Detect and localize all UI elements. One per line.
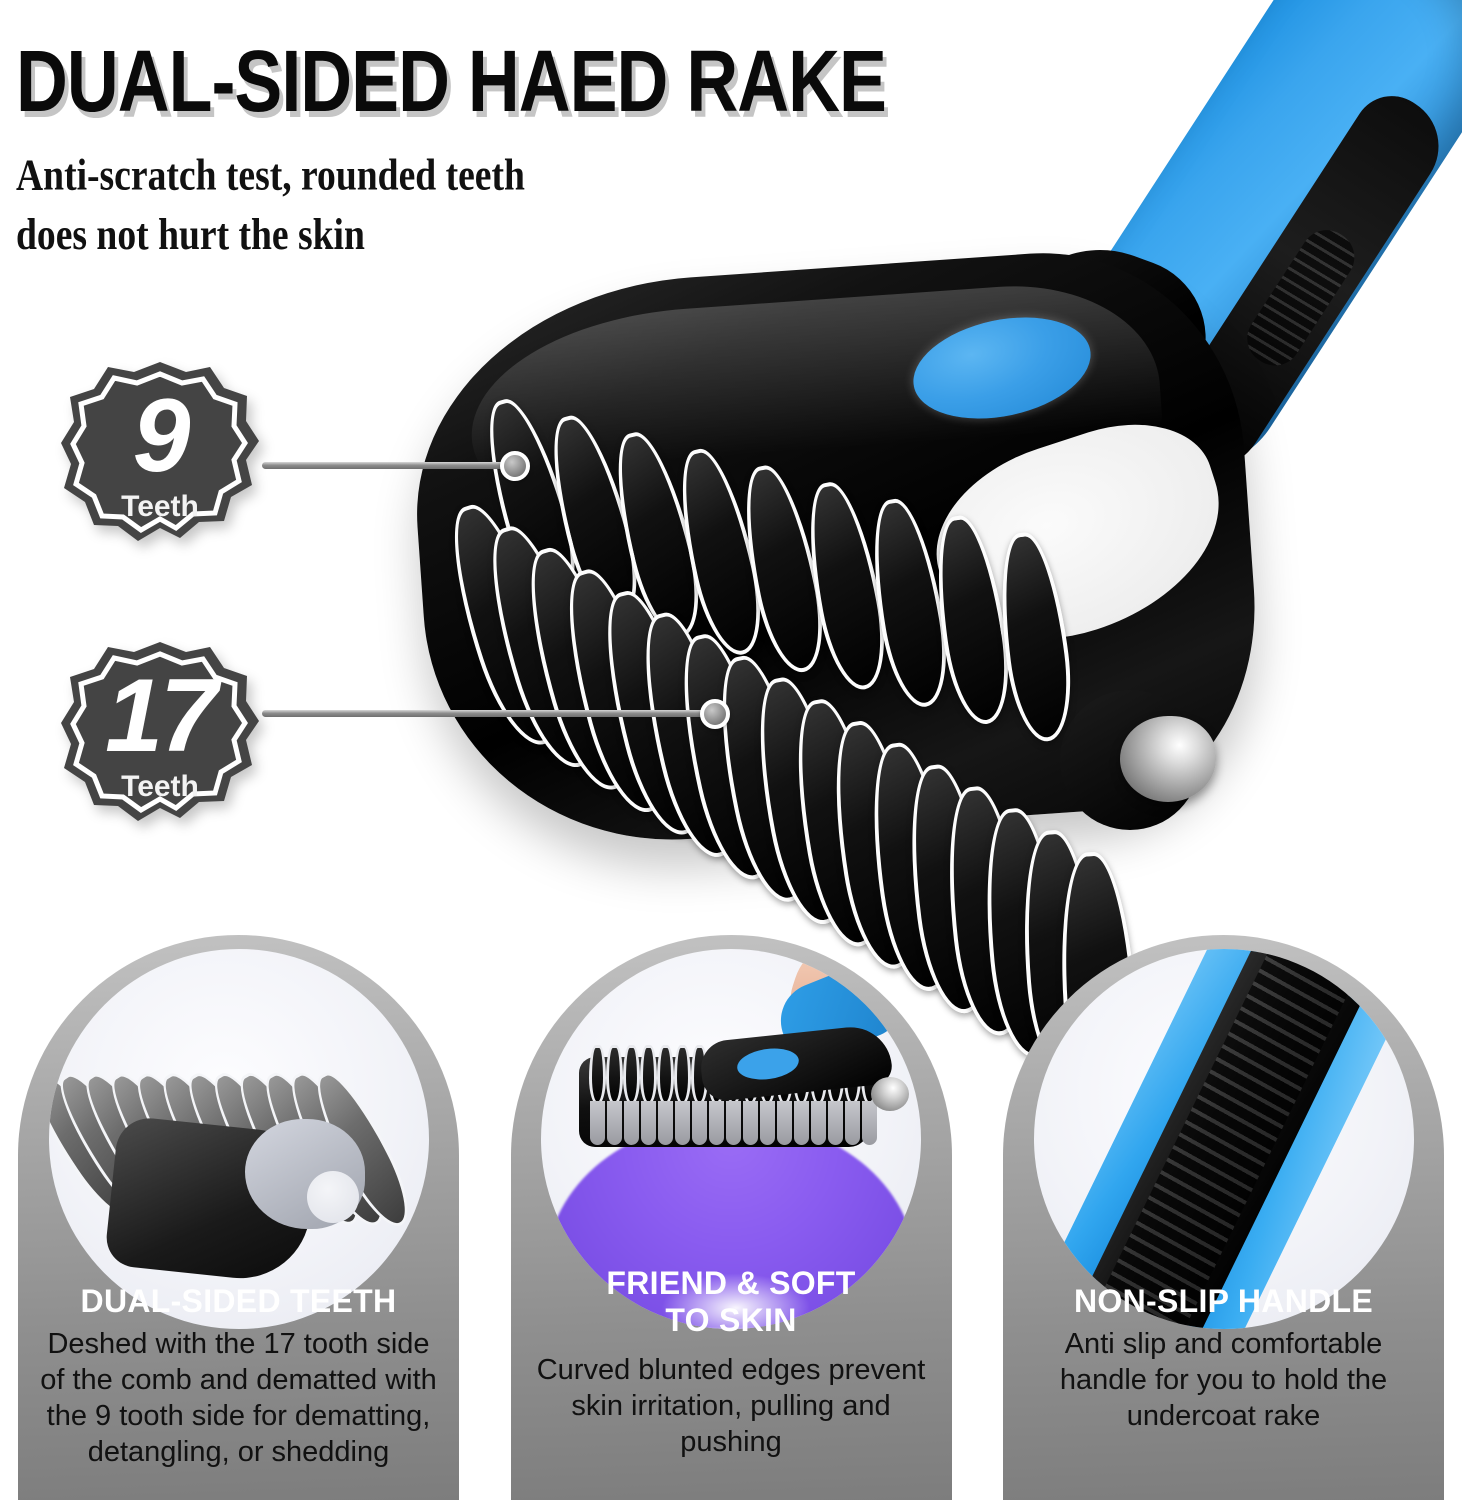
badge-17-label: Teeth: [58, 770, 262, 804]
leader-dot-17-teeth: [700, 699, 730, 729]
handle-closeup-illustration: [1034, 949, 1414, 1329]
rake-tooth-tip: [811, 1101, 826, 1145]
rake-tooth: [640, 1045, 657, 1105]
feature-cards-row: DUAL-SIDED TEETH Deshed with the 17 toot…: [0, 935, 1462, 1500]
feature-card-non-slip-handle: NON-SLIP HANDLE Anti slip and comfortabl…: [1003, 935, 1444, 1500]
card-title-2-line-2: TO SKIN: [527, 1302, 936, 1339]
leader-dot-9-teeth: [500, 451, 530, 481]
feature-card-dual-sided-teeth: DUAL-SIDED TEETH Deshed with the 17 toot…: [18, 935, 459, 1500]
rake-tooth: [674, 1045, 691, 1105]
badge-9-number: 9: [58, 384, 262, 488]
badge-17-teeth: 17 Teeth: [58, 638, 262, 834]
rake-tooth-tip: [624, 1101, 639, 1145]
page-title: DUAL-SIDED HAED RAKE: [16, 38, 1083, 125]
rake-tooth-tip: [590, 1101, 605, 1145]
feature-card-friend-soft-to-skin: FRIEND & SOFT TO SKIN Curved blunted edg…: [511, 935, 952, 1500]
card-body-2: Curved blunted edges prevent skin irrita…: [511, 1353, 952, 1461]
rake-tooth-tip: [845, 1101, 860, 1145]
rake-tooth-tip: [641, 1101, 656, 1145]
leader-line-9-teeth: [262, 462, 514, 469]
card-title-2-line-1: FRIEND & SOFT: [527, 1265, 936, 1302]
screw-cap-icon: [871, 1077, 909, 1111]
rake-tooth: [657, 1045, 674, 1105]
rake-tooth-tip: [675, 1101, 690, 1145]
subtitle-line-2: does not hurt the skin: [16, 205, 1050, 264]
rake-tooth: [589, 1045, 606, 1105]
rake-tooth-tip: [794, 1101, 809, 1145]
rake-tooth-tip: [658, 1101, 673, 1145]
rake-tooth-tip: [743, 1101, 758, 1145]
card-body-3: Anti slip and comfortable handle for you…: [1003, 1327, 1444, 1435]
card-photo-dual-sided-teeth: [49, 949, 429, 1329]
card-title-2: FRIEND & SOFT TO SKIN: [511, 1265, 952, 1339]
rake-tooth-tip: [862, 1101, 877, 1145]
rake-tooth-tip: [607, 1101, 622, 1145]
rake-tooth: [606, 1045, 623, 1105]
rake-tooth: [623, 1045, 640, 1105]
rake-tooth-tip: [709, 1101, 724, 1145]
card-title-1: DUAL-SIDED TEETH: [18, 1283, 459, 1320]
badge-17-number: 17: [58, 664, 262, 768]
metal-screw-cap: [1120, 716, 1216, 802]
rake-tooth-tip: [760, 1101, 775, 1145]
subtitle: Anti-scratch test, rounded teeth does no…: [16, 146, 1050, 264]
rake-tooth-tip: [692, 1101, 707, 1145]
comb-hook: [245, 1119, 365, 1229]
card-title-3: NON-SLIP HANDLE: [1003, 1283, 1444, 1320]
badge-9-label: Teeth: [58, 490, 262, 524]
card-photo-non-slip-handle: [1034, 949, 1414, 1329]
subtitle-line-1: Anti-scratch test, rounded teeth: [16, 146, 1050, 205]
leader-line-17-teeth: [262, 710, 714, 717]
rake-tooth-tip: [726, 1101, 741, 1145]
badge-9-teeth: 9 Teeth: [58, 358, 262, 554]
rake-tooth-tip: [828, 1101, 843, 1145]
rake-tooth-tip: [777, 1101, 792, 1145]
card-body-1: Deshed with the 17 tooth side of the com…: [18, 1327, 459, 1471]
header: DUAL-SIDED HAED RAKE Anti-scratch test, …: [16, 38, 1116, 252]
